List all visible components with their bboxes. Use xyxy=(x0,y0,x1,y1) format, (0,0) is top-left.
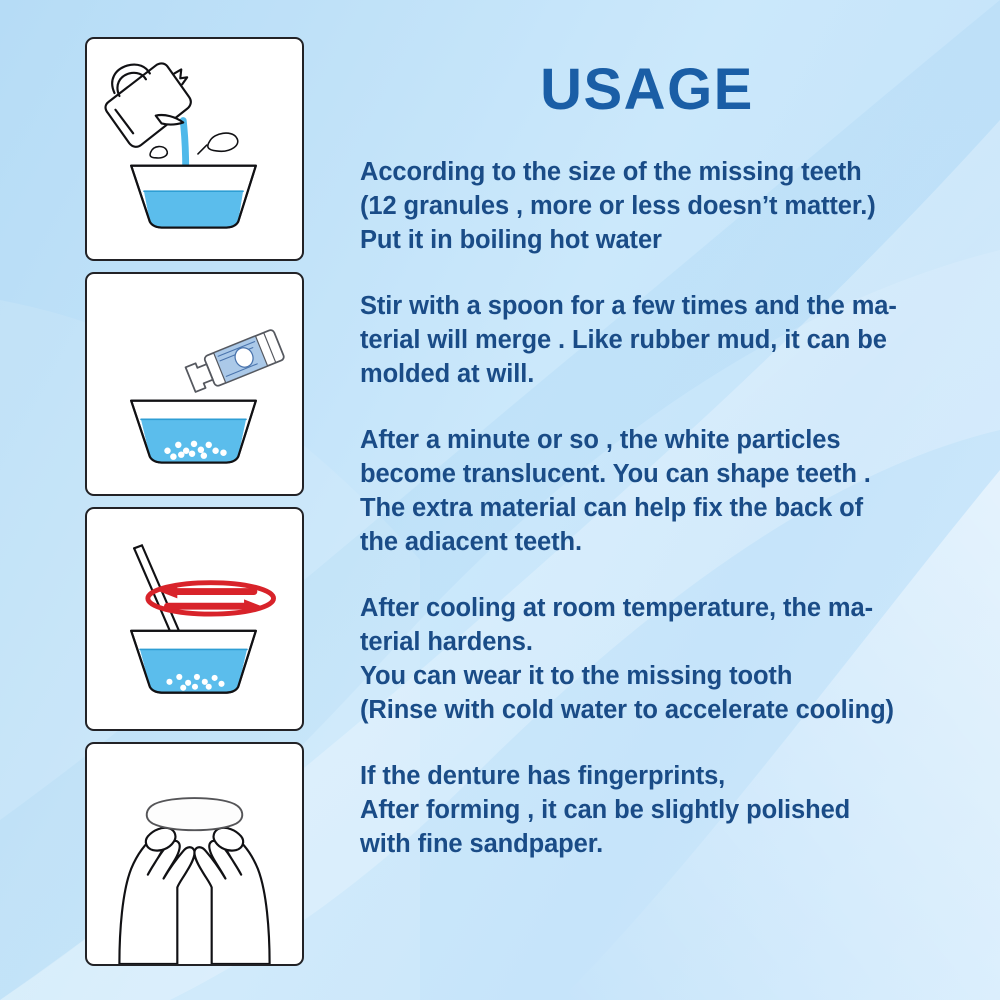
bottle-pouring-granules-into-bowl-icon xyxy=(87,274,302,494)
instruction-step-5: If the denture has fingerprints, After f… xyxy=(360,759,970,861)
instruction-step-4: After cooling at room temperature, the m… xyxy=(360,591,970,727)
instruction-step-1: According to the size of the missing tee… xyxy=(360,155,970,257)
panel-hands-molding xyxy=(85,742,304,966)
instruction-step-2: Stir with a spoon for a few times and th… xyxy=(360,289,970,391)
kettle-pouring-water-into-bowl-icon xyxy=(87,39,302,259)
panel-stirring xyxy=(85,507,304,731)
poster-root: USAGE According to the size of the missi… xyxy=(0,0,1000,1000)
panel-bottle-granules xyxy=(85,272,304,496)
panel-kettle-pouring xyxy=(85,37,304,261)
text-column: USAGE According to the size of the missi… xyxy=(360,60,970,861)
spoon-stirring-bowl-icon xyxy=(87,509,302,729)
illustration-panel-column xyxy=(85,37,306,977)
hands-molding-denture-icon xyxy=(87,744,302,964)
instruction-step-3: After a minute or so , the white particl… xyxy=(360,423,970,559)
page-title: USAGE xyxy=(362,60,932,121)
